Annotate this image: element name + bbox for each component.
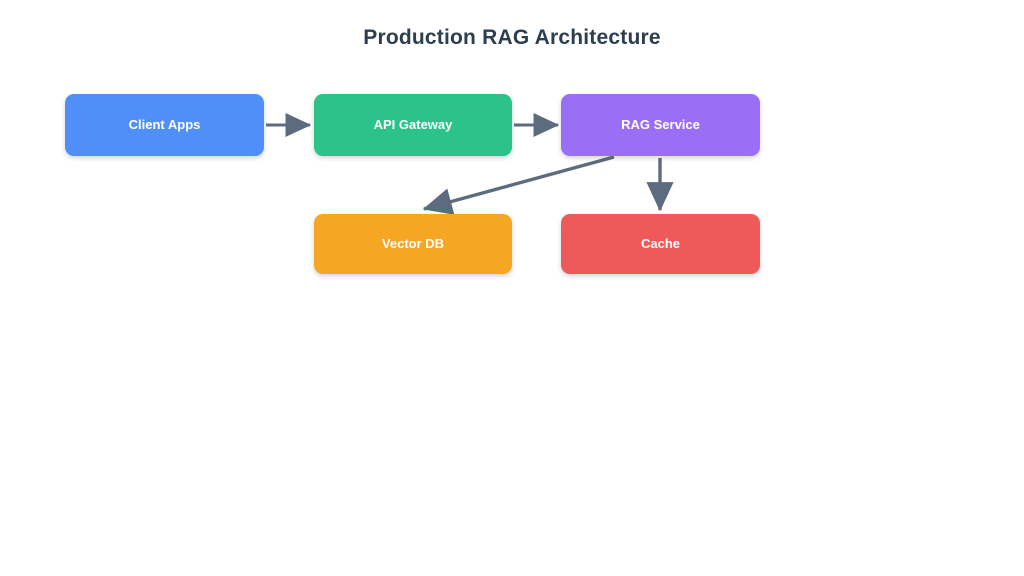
node-label: Cache xyxy=(641,236,680,252)
node-client-apps[interactable]: Client Apps xyxy=(65,94,264,156)
node-vector-db[interactable]: Vector DB xyxy=(314,214,512,274)
node-label: Client Apps xyxy=(129,117,201,133)
edge-layer xyxy=(0,0,1024,576)
page-title: Production RAG Architecture xyxy=(0,26,1024,50)
node-label: Vector DB xyxy=(382,236,444,252)
node-label: API Gateway xyxy=(374,117,453,133)
diagram-canvas: Production RAG Architecture Client Apps … xyxy=(0,0,1024,576)
edge-rag-service-to-vector-db xyxy=(424,157,614,209)
node-rag-service[interactable]: RAG Service xyxy=(561,94,760,156)
node-cache[interactable]: Cache xyxy=(561,214,760,274)
node-api-gateway[interactable]: API Gateway xyxy=(314,94,512,156)
node-label: RAG Service xyxy=(621,117,700,133)
